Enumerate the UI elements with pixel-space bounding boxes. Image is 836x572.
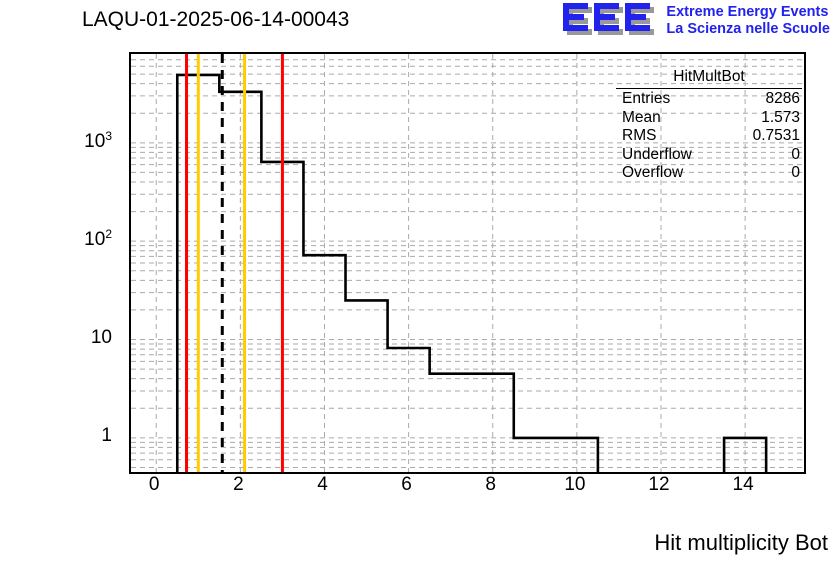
eee-logo: Extreme Energy Events La Scienza nelle S…	[562, 2, 830, 40]
stats-key: Mean	[622, 109, 661, 128]
stats-value: 1.573	[761, 109, 800, 128]
page-title: LAQU-01-2025-06-14-00043	[82, 8, 349, 32]
stats-box: HitMultBot Entries8286Mean1.573RMS0.7531…	[616, 68, 802, 183]
x-tick-label: 0	[149, 474, 160, 496]
x-axis-labels: 02468101214	[129, 474, 806, 506]
y-tick-label: 102	[84, 227, 112, 251]
y-tick-label: 10	[91, 327, 112, 349]
x-tick-label: 10	[564, 474, 585, 496]
stats-row: Mean1.573	[616, 109, 802, 128]
y-tick-label: 103	[84, 129, 112, 153]
stats-key: Entries	[622, 90, 670, 109]
stats-row: RMS0.7531	[616, 127, 802, 146]
x-tick-label: 14	[733, 474, 754, 496]
x-tick-label: 6	[401, 474, 412, 496]
eee-logo-line1: Extreme Energy Events	[666, 4, 830, 21]
x-tick-label: 2	[233, 474, 244, 496]
stats-value: 8286	[766, 90, 800, 109]
x-axis-title: Hit multiplicity Bot	[654, 530, 828, 556]
root-canvas: LAQU-01-2025-06-14-00043	[0, 0, 836, 572]
eee-logo-mark	[562, 2, 658, 40]
eee-logo-glyph	[562, 2, 658, 40]
stats-row: Overflow0	[616, 164, 802, 183]
x-tick-label: 4	[317, 474, 328, 496]
stats-row: Entries8286	[616, 90, 802, 109]
y-tick-label: 1	[101, 425, 112, 447]
stats-rows: Entries8286Mean1.573RMS0.7531Underflow0O…	[616, 90, 802, 183]
stats-title: HitMultBot	[616, 68, 802, 89]
eee-logo-line2: La Scienza nelle Scuole	[666, 21, 830, 38]
stats-value: 0.7531	[753, 127, 800, 146]
stats-key: Overflow	[622, 164, 683, 183]
stats-value: 0	[791, 146, 800, 165]
x-tick-label: 8	[485, 474, 496, 496]
stats-key: Underflow	[622, 146, 692, 165]
stats-key: RMS	[622, 127, 656, 146]
y-axis-labels: 110102103	[0, 52, 124, 470]
eee-logo-text: Extreme Energy Events La Scienza nelle S…	[666, 4, 830, 38]
stats-row: Underflow0	[616, 146, 802, 165]
stats-value: 0	[791, 164, 800, 183]
x-tick-label: 12	[648, 474, 669, 496]
